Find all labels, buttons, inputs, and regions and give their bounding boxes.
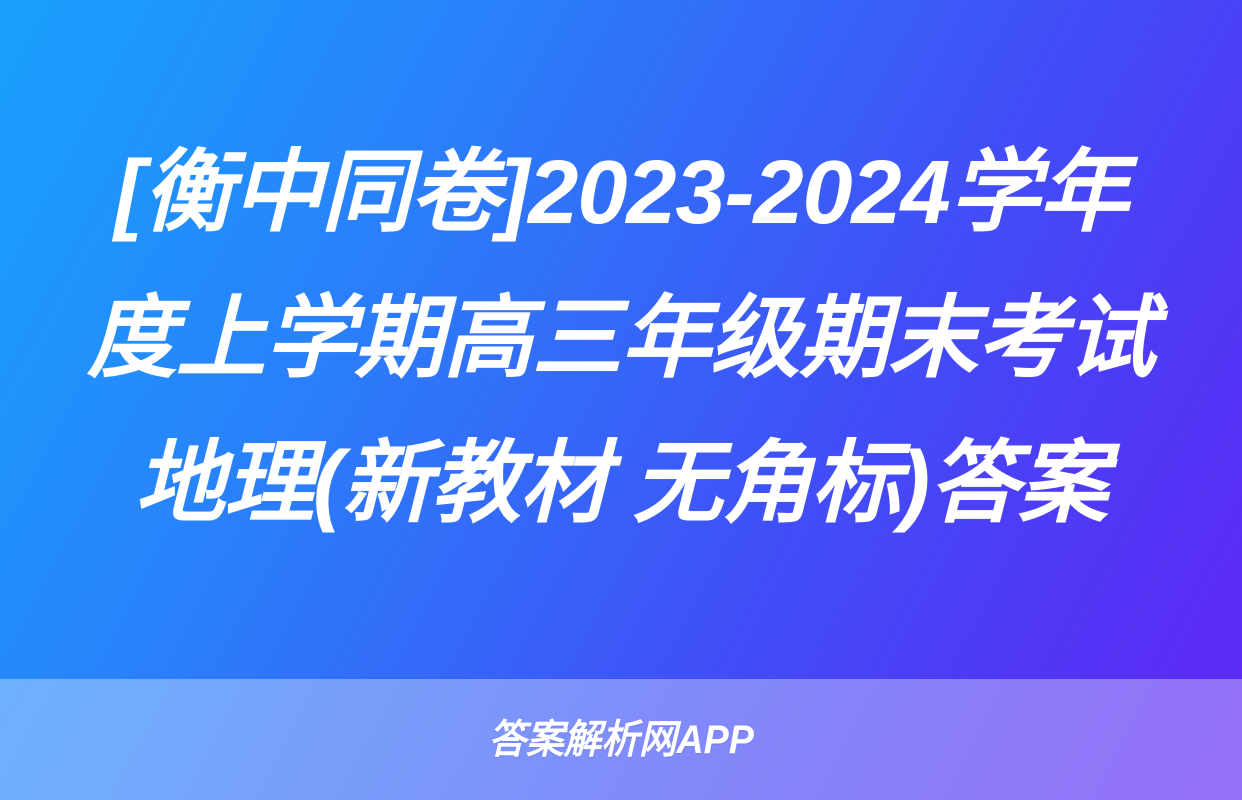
title-block: [衡中同卷]2023-2024学年度上学期高三年级期末考试地理(新教材 无角标)… (0, 0, 1242, 679)
page-title: [衡中同卷]2023-2024学年度上学期高三年级期末考试地理(新教材 无角标)… (74, 121, 1168, 558)
title-card: [衡中同卷]2023-2024学年度上学期高三年级期末考试地理(新教材 无角标)… (0, 0, 1242, 800)
app-watermark-label: 答案解析网APP (488, 720, 753, 760)
footer-watermark-bar: 答案解析网APP (0, 679, 1242, 800)
title-line-1: [衡中同卷]2023-2024 (114, 143, 949, 243)
title-line-4: 标)答案 (811, 434, 1107, 534)
